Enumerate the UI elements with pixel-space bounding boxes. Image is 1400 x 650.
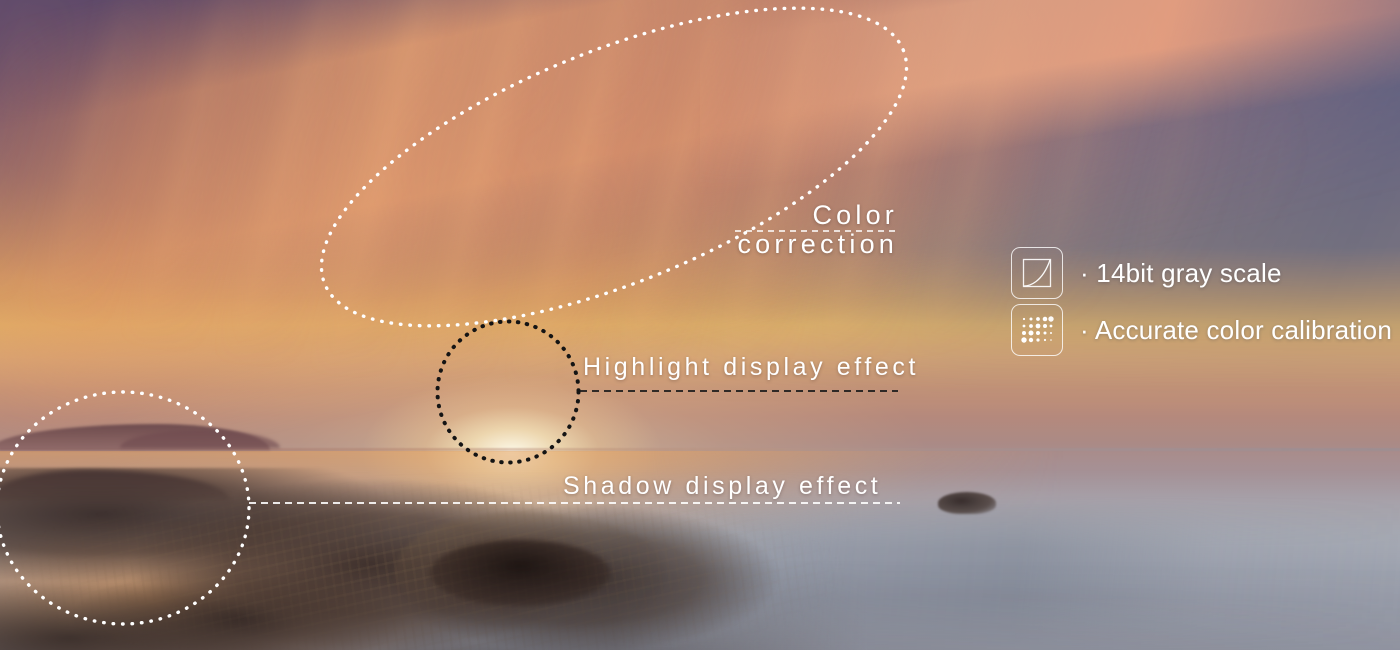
feature-item-gray-scale: · 14bit gray scale (1011, 247, 1392, 299)
highlight-display-effect-label: Highlight display effect (583, 353, 919, 382)
tone-curve-icon-glyph (1020, 256, 1054, 290)
color-correction-ellipse (281, 0, 946, 391)
feature-label-text: 14bit gray scale (1096, 258, 1281, 288)
color-dot-grid-icon-glyph (1020, 315, 1054, 345)
marketing-hero-image: Color correction Highlight display effec… (0, 0, 1400, 650)
shadow-display-effect-label: Shadow display effect (563, 472, 881, 501)
feature-list: · 14bit gray scale (1011, 247, 1392, 361)
color-correction-label-line1: Color (560, 200, 898, 231)
feature-label-text: Accurate color calibration (1095, 315, 1392, 345)
highlight-circle (438, 322, 579, 463)
tone-curve-icon (1011, 247, 1063, 299)
feature-item-color-calibration: · Accurate color calibration (1011, 304, 1392, 356)
color-dot-grid-icon (1011, 304, 1063, 356)
feature-bullet: · (1080, 315, 1089, 345)
feature-bullet: · (1080, 258, 1089, 288)
shadow-ellipse (0, 392, 249, 624)
feature-label-color-calibration: · Accurate color calibration (1080, 315, 1392, 346)
feature-label-gray-scale: · 14bit gray scale (1080, 258, 1282, 289)
color-correction-label-line2: correction (560, 229, 898, 260)
